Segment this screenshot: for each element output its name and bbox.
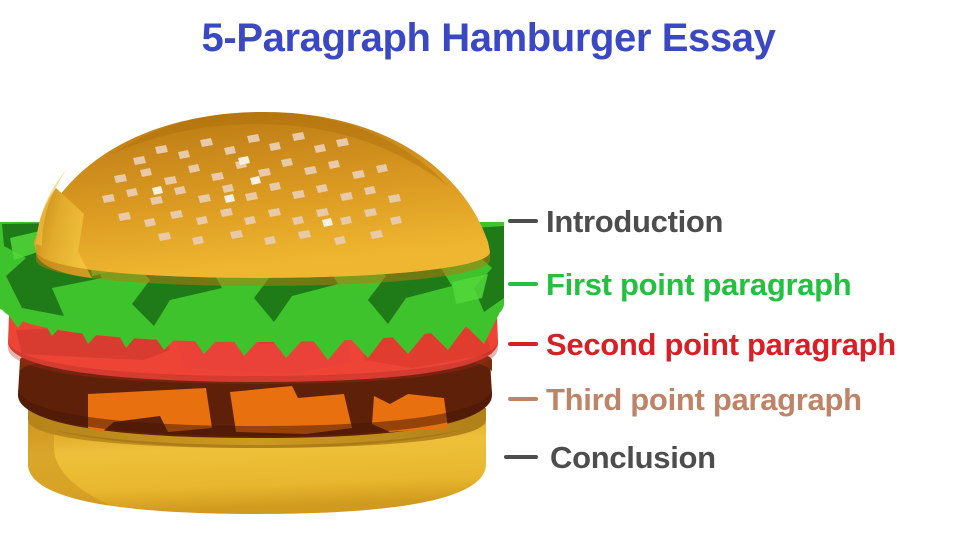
leader-line-introduction xyxy=(508,219,538,223)
leader-line-conclusion xyxy=(504,455,538,459)
callout-label-first-point: First point paragraph xyxy=(546,269,851,300)
callout-conclusion[interactable]: Conclusion xyxy=(504,437,716,477)
callout-third-point[interactable]: Third point paragraph xyxy=(508,379,862,419)
callout-introduction[interactable]: Introduction xyxy=(508,201,723,241)
callout-first-point[interactable]: First point paragraph xyxy=(508,264,851,304)
callout-label-introduction: Introduction xyxy=(546,206,723,237)
callout-label-third-point: Third point paragraph xyxy=(546,384,862,415)
page-title: 5-Paragraph Hamburger Essay xyxy=(0,16,977,61)
hamburger-illustration xyxy=(0,92,522,517)
leader-line-third-point xyxy=(508,397,538,401)
top-bun-shape xyxy=(34,112,490,286)
diagram-canvas: 5-Paragraph Hamburger Essay xyxy=(0,0,977,541)
callout-label-second-point: Second point paragraph xyxy=(546,329,896,360)
leader-line-first-point xyxy=(508,282,538,286)
leader-line-second-point xyxy=(508,342,538,346)
callout-second-point[interactable]: Second point paragraph xyxy=(508,324,896,364)
callout-label-conclusion: Conclusion xyxy=(550,442,716,473)
